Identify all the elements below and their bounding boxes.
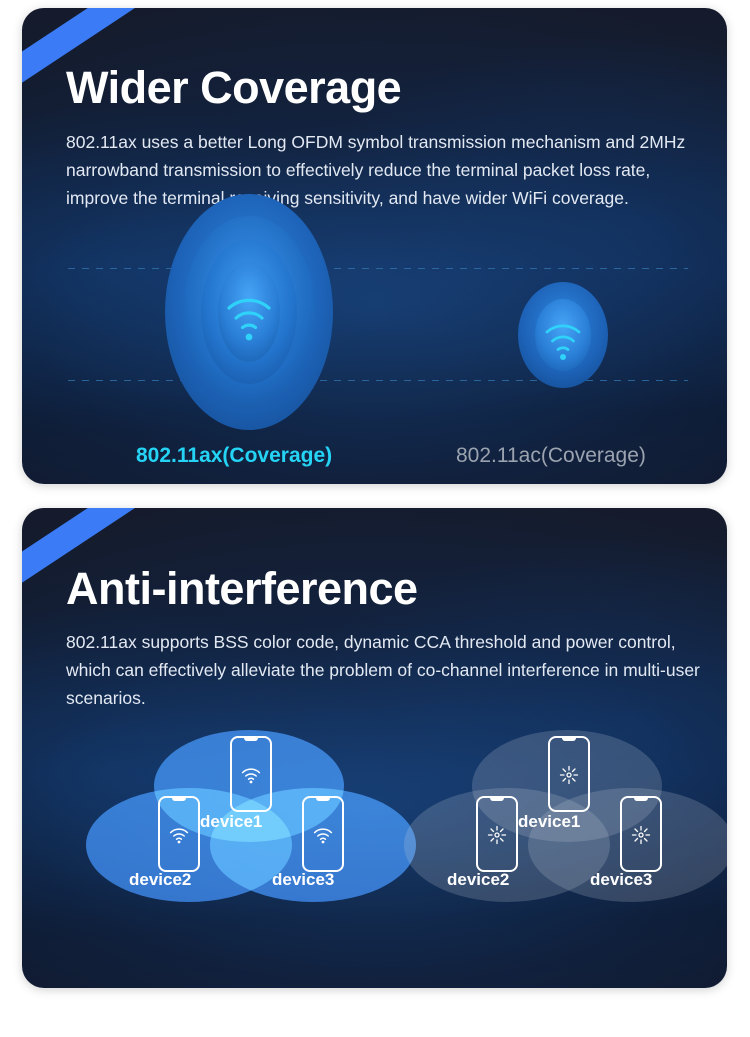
phone-device3: [302, 796, 344, 872]
page-title: Wider Coverage: [66, 62, 401, 114]
phone-device2: [158, 796, 200, 872]
no-signal-burst-icon: [631, 825, 651, 845]
phone-device2: [476, 796, 518, 872]
device-group-ac: device1 device2 device3: [400, 726, 727, 926]
interference-figure: device1 device2 device3: [22, 726, 727, 988]
device-group-ax: device1 device2 device3: [82, 726, 412, 926]
coverage-rings-ac: [509, 280, 617, 390]
rings-ac-svg: [509, 280, 617, 390]
phone-device1: [230, 736, 272, 812]
wifi-icon: [240, 766, 262, 784]
card-anti-interference: Anti-interference 802.11ax supports BSS …: [22, 508, 727, 988]
infographic-page: Wider Coverage 802.11ax uses a better Lo…: [0, 0, 750, 1037]
phone-device3: [620, 796, 662, 872]
wifi-icon: [312, 826, 334, 844]
wifi-icon: [168, 826, 190, 844]
card-description: 802.11ax supports BSS color code, dynami…: [66, 628, 706, 712]
phone-device1: [548, 736, 590, 812]
page-title: Anti-interference: [66, 563, 418, 615]
device-label: device2: [129, 870, 191, 890]
caption-coverage-ac: 802.11ac(Coverage): [456, 444, 646, 468]
device-label: device1: [518, 812, 580, 832]
device-label: device2: [447, 870, 509, 890]
device-label: device3: [272, 870, 334, 890]
coverage-rings-ax: [149, 188, 349, 436]
device-label: device3: [590, 870, 652, 890]
rings-ax-svg: [149, 188, 349, 436]
wifi-icon-dot: [560, 354, 566, 360]
card-wider-coverage: Wider Coverage 802.11ax uses a better Lo…: [22, 8, 727, 484]
caption-coverage-ax: 802.11ax(Coverage): [136, 444, 332, 468]
device-label: device1: [200, 812, 262, 832]
no-signal-burst-icon: [559, 765, 579, 785]
wifi-icon-dot: [246, 334, 253, 341]
no-signal-burst-icon: [487, 825, 507, 845]
